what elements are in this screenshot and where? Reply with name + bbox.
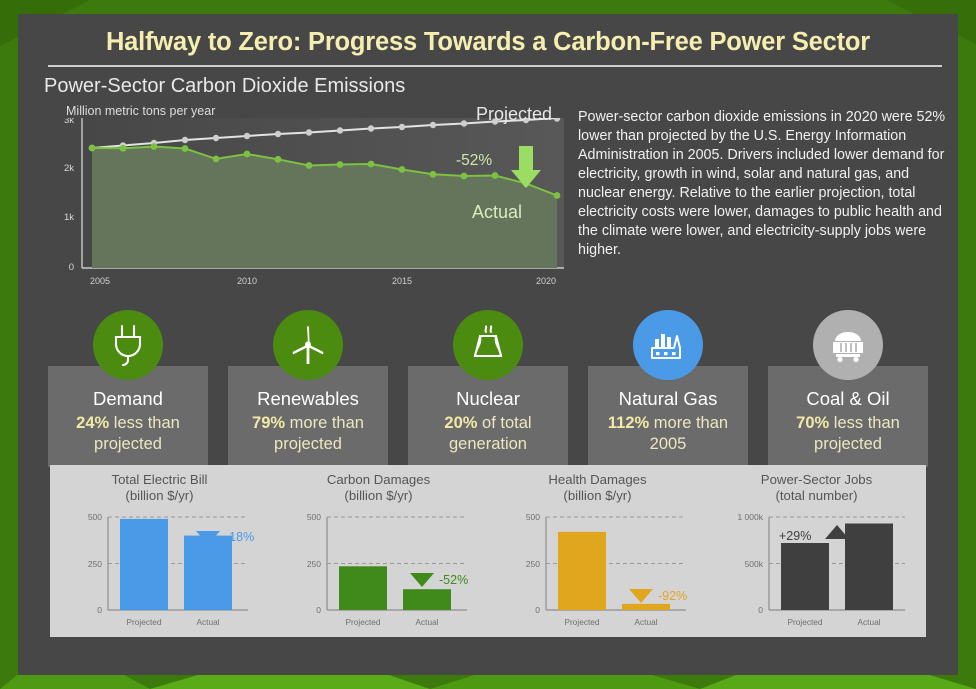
svg-text:250: 250 [526,559,540,569]
projected-series-label: Projected [476,104,552,125]
svg-text:3k: 3k [64,118,74,126]
svg-text:0: 0 [758,605,763,615]
bar-chart-title: Carbon Damages [327,472,430,487]
svg-text:Projected: Projected [126,617,161,627]
bar-chart-subtitle: (billion $/yr) [563,488,631,503]
coal-hopper-icon [813,310,883,380]
svg-text:-18%: -18% [225,530,254,544]
stat-card-body: Coal & Oil 70% less than projected [768,366,928,467]
svg-text:Projected: Projected [787,617,822,627]
svg-text:Actual: Actual [634,617,657,627]
svg-text:500: 500 [526,512,540,522]
bar-chart-subtitle: (billion $/yr) [344,488,412,503]
svg-text:Projected: Projected [345,617,380,627]
stat-card-body: Renewables 79% more than projected [228,366,388,467]
svg-text:0: 0 [535,605,540,615]
stat-card-value: 24% less than projected [54,413,202,454]
svg-text:2k: 2k [64,163,74,174]
svg-text:500: 500 [307,512,321,522]
svg-text:2005: 2005 [90,276,110,286]
svg-text:Actual: Actual [415,617,438,627]
svg-text:500k: 500k [745,559,764,569]
stat-card-renewables[interactable]: Renewables 79% more than projected [228,310,388,467]
section-subtitle: Power-Sector Carbon Dioxide Emissions [18,67,958,98]
page-title: Halfway to Zero: Progress Towards a Carb… [18,14,958,65]
bar-chart-title: Health Damages [548,472,646,487]
svg-text:2015: 2015 [392,276,412,286]
actual-series-label: Actual [472,202,522,223]
svg-text:1 000k: 1 000k [737,512,763,522]
svg-text:250: 250 [88,559,102,569]
bar-plot-area: 500 250 0 -52% Projected Actual [269,509,488,637]
stat-card-body: Demand 24% less than projected [48,366,208,467]
cooling-tower-icon [453,310,523,380]
emissions-delta-label: -52% [456,152,492,170]
bar-plot-area: 500 250 0 -18% Projected Actual [50,509,269,637]
svg-text:0: 0 [316,605,321,615]
factory-icon [633,310,703,380]
svg-text:0: 0 [97,605,102,615]
svg-text:Actual: Actual [857,617,880,627]
svg-text:-92%: -92% [658,589,687,603]
stat-card-body: Nuclear 20% of total generation [408,366,568,467]
bar-chart-health-damages: Health Damages (billion $/yr) 500 250 0 … [488,465,707,637]
bar-chart-subtitle: (billion $/yr) [125,488,193,503]
power-plug-icon [93,310,163,380]
stat-card-value: 112% more than 2005 [594,413,742,454]
emissions-line-chart: Million metric tons per year 3k 2k 1k 0 [44,104,564,294]
stat-card-body: Natural Gas 112% more than 2005 [588,366,748,467]
bar-plot-area: 1 000k 500k 0 +29% Projected Actual [707,509,926,637]
stat-card-value: 20% of total generation [414,413,562,454]
svg-text:250: 250 [307,559,321,569]
emissions-chart-row: Million metric tons per year 3k 2k 1k 0 [18,98,958,298]
stat-card-title: Nuclear [414,388,562,410]
summary-paragraph: Power-sector carbon dioxide emissions in… [578,108,950,260]
stat-card-demand[interactable]: Demand 24% less than projected [48,310,208,467]
bar-chart-power-sector-jobs: Power-Sector Jobs (total number) 1 000k … [707,465,926,637]
stat-card-row: Demand 24% less than projected Renewable… [18,310,958,467]
svg-text:-52%: -52% [439,573,468,587]
stat-card-coal-oil[interactable]: Coal & Oil 70% less than projected [768,310,928,467]
bar-chart-carbon-damages: Carbon Damages (billion $/yr) 500 250 0 … [269,465,488,637]
stat-card-title: Coal & Oil [774,388,922,410]
svg-text:+29%: +29% [779,529,811,543]
wind-turbine-icon [273,310,343,380]
svg-text:Actual: Actual [196,617,219,627]
svg-text:Projected: Projected [564,617,599,627]
bar-plot-area: 500 250 0 -92% Projected Actual [488,509,707,637]
svg-text:500: 500 [88,512,102,522]
stat-card-title: Renewables [234,388,382,410]
svg-text:2020: 2020 [536,276,556,286]
stat-card-natural-gas[interactable]: Natural Gas 112% more than 2005 [588,310,748,467]
bar-chart-title: Total Electric Bill [111,472,207,487]
bar-chart-total-electric-bill: Total Electric Bill (billion $/yr) 500 2… [50,465,269,637]
stat-card-value: 70% less than projected [774,413,922,454]
bar-chart-subtitle: (total number) [775,488,857,503]
stat-card-title: Natural Gas [594,388,742,410]
bar-chart-title: Power-Sector Jobs [761,472,872,487]
stat-card-nuclear[interactable]: Nuclear 20% of total generation [408,310,568,467]
stat-card-value: 79% more than projected [234,413,382,454]
main-panel: Halfway to Zero: Progress Towards a Carb… [18,14,958,675]
y-axis-caption: Million metric tons per year [66,104,215,118]
comparison-bar-panel: Total Electric Bill (billion $/yr) 500 2… [50,465,926,637]
svg-text:1k: 1k [64,212,74,223]
stat-card-title: Demand [54,388,202,410]
svg-text:2010: 2010 [237,276,257,286]
svg-text:0: 0 [69,262,74,273]
